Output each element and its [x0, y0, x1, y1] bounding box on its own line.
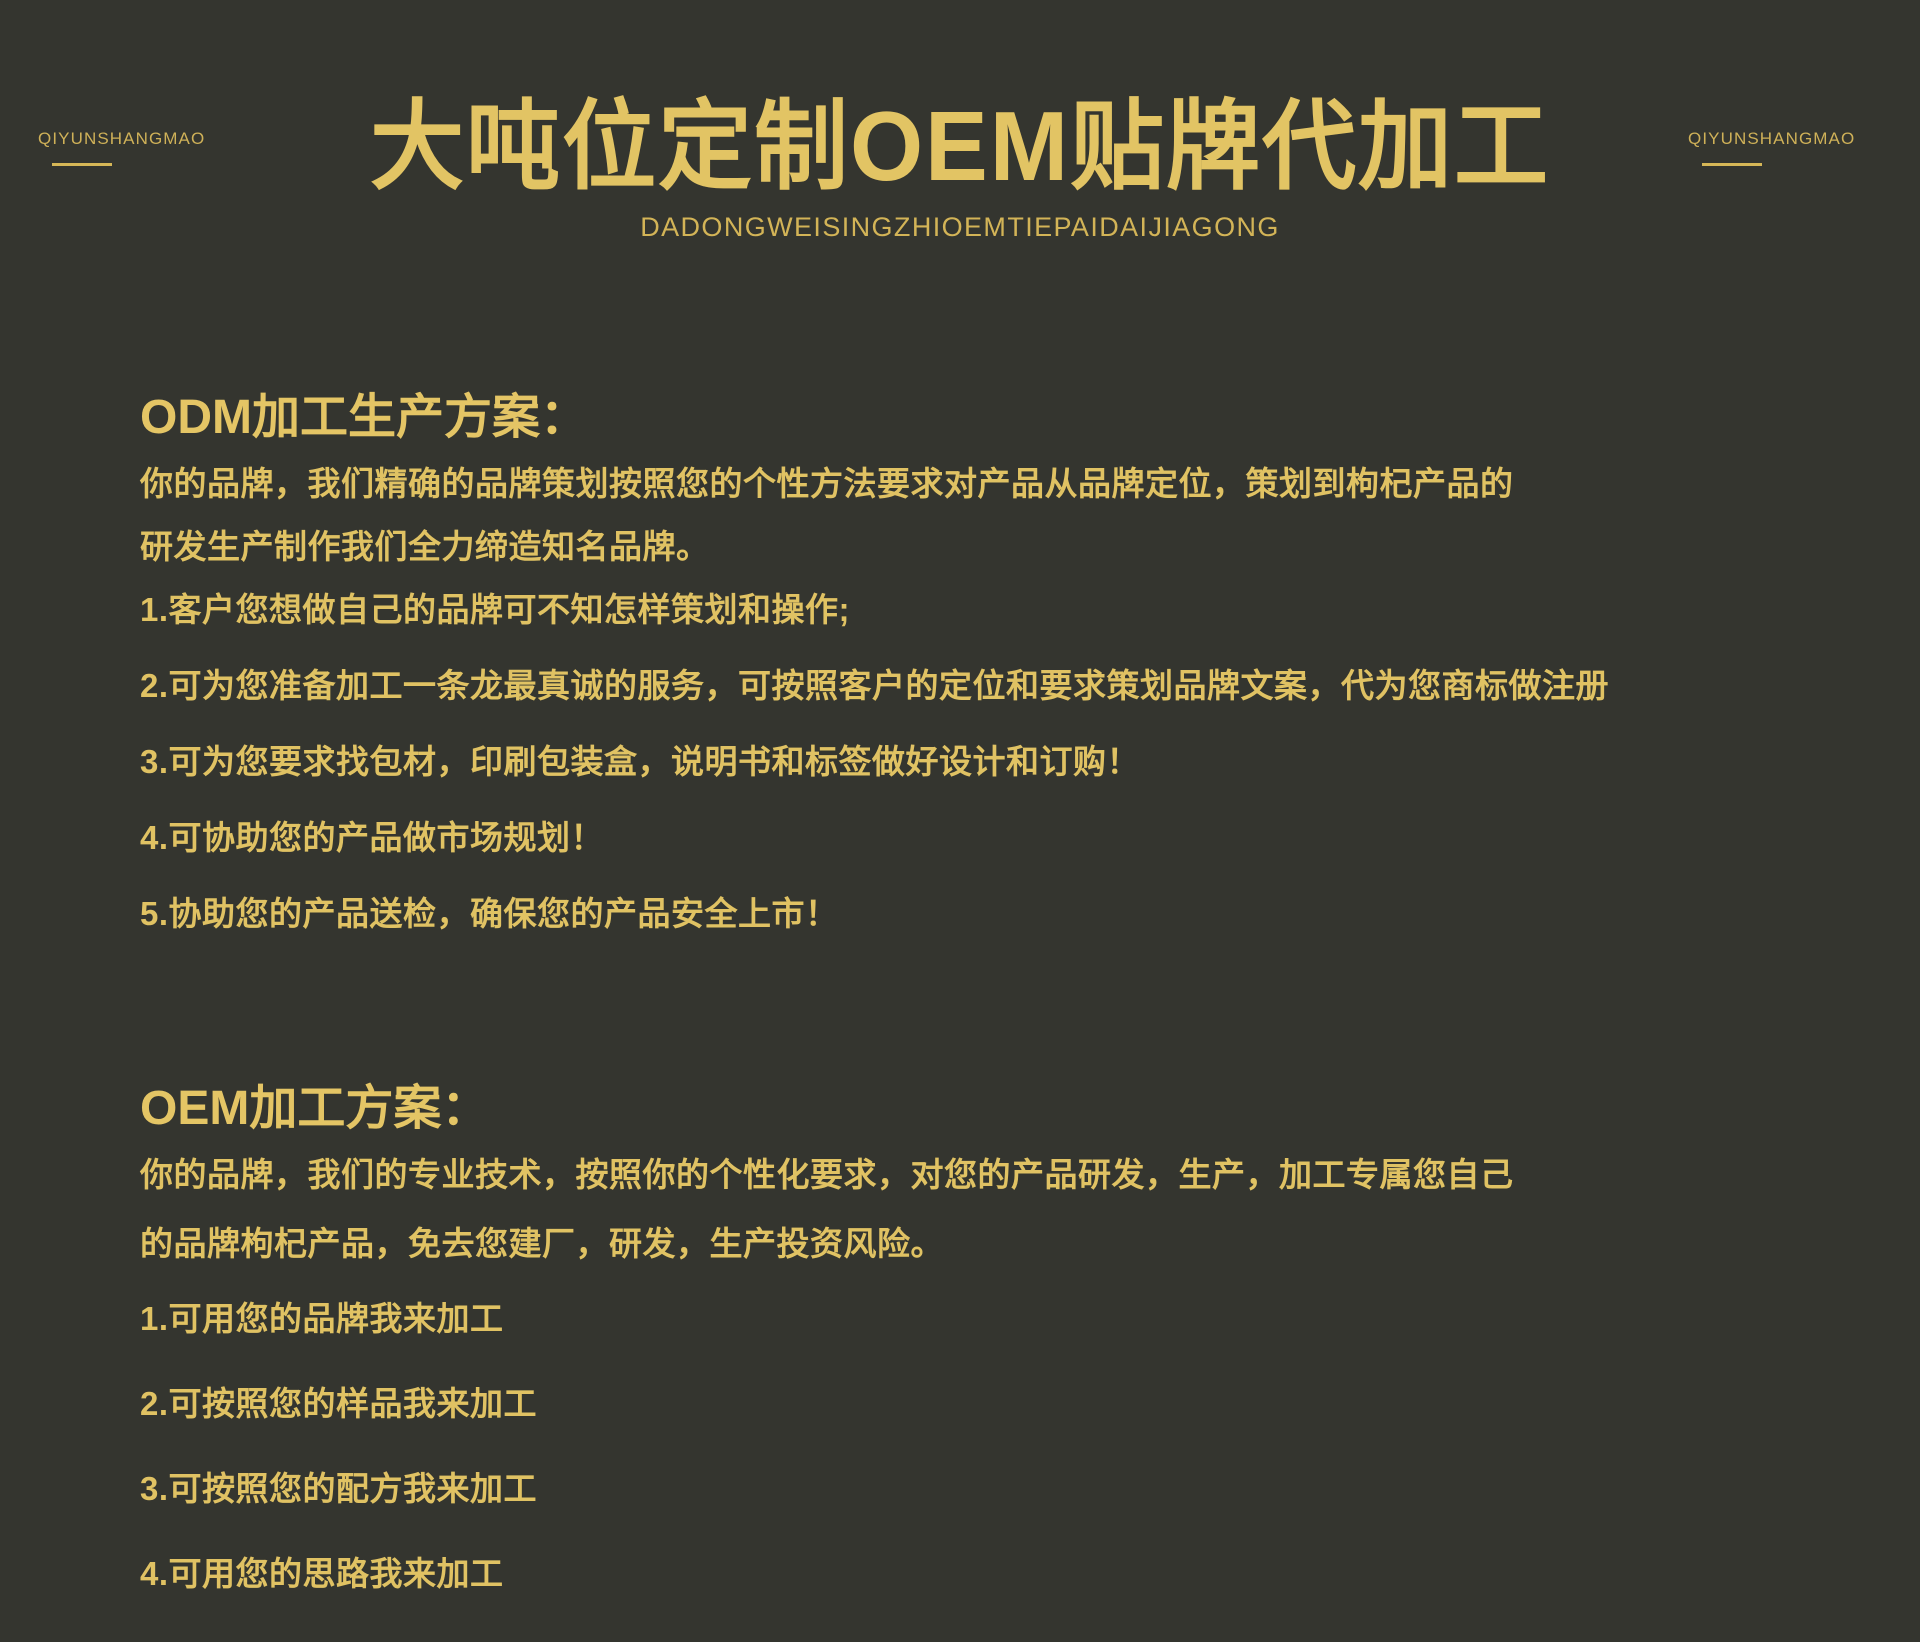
list-item: 3.可为您要求找包材，印刷包装盒，说明书和标签做好设计和订购！ [140, 745, 1920, 778]
section-oem-paragraph-1: 你的品牌，我们的专业技术，按照你的个性化要求，对您的产品研发，生产，加工专属您自… [140, 1158, 1920, 1191]
section-odm-heading: ODM加工生产方案： [140, 392, 1920, 445]
section-oem-list: 1.可用您的品牌我来加工 2.可按照您的样品我来加工 3.可按照您的配方我来加工… [140, 1302, 1920, 1590]
section-odm-list: 1.客户您想做自己的品牌可不知怎样策划和操作; 2.可为您准备加工一条龙最真诚的… [140, 593, 1920, 930]
list-item: 4.可协助您的产品做市场规划！ [140, 821, 1920, 854]
list-item: 1.可用您的品牌我来加工 [140, 1302, 1920, 1335]
list-item: 1.客户您想做自己的品牌可不知怎样策划和操作; [140, 593, 1920, 626]
section-odm: ODM加工生产方案： 你的品牌，我们精确的品牌策划按照您的个性方法要求对产品从品… [140, 300, 1920, 930]
section-odm-paragraph-1: 你的品牌，我们精确的品牌策划按照您的个性方法要求对产品从品牌定位，策划到枸杞产品… [140, 467, 1920, 500]
list-item: 3.可按照您的配方我来加工 [140, 1472, 1920, 1505]
section-oem: OEM加工方案： 你的品牌，我们的专业技术，按照你的个性化要求，对您的产品研发，… [140, 973, 1920, 1590]
list-item: 4.可用您的思路我来加工 [140, 1557, 1920, 1590]
list-item: 5.协助您的产品送检，确保您的产品安全上市！ [140, 897, 1920, 930]
list-item: 2.可按照您的样品我来加工 [140, 1387, 1920, 1420]
list-item: 2.可为您准备加工一条龙最真诚的服务，可按照客户的定位和要求策划品牌文案，代为您… [140, 669, 1920, 702]
title-block: 大吨位定制OEM贴牌代加工 DADONGWEISINGZHIOEMTIEPAID… [0, 94, 1920, 243]
page-header: QIYUNSHANGMAO QIYUNSHANGMAO 大吨位定制OEM贴牌代加… [0, 0, 1920, 300]
section-oem-heading: OEM加工方案： [140, 1083, 1920, 1136]
content-area: ODM加工生产方案： 你的品牌，我们精确的品牌策划按照您的个性方法要求对产品从品… [0, 300, 1920, 1642]
page-title: 大吨位定制OEM贴牌代加工 [38, 94, 1881, 200]
section-oem-paragraph-2: 的品牌枸杞产品，免去您建厂，研发，生产投资风险。 [140, 1227, 1920, 1260]
page-subtitle: DADONGWEISINGZHIOEMTIEPAIDAIJIAGONG [0, 212, 1920, 243]
section-odm-paragraph-2: 研发生产制作我们全力缔造知名品牌。 [140, 530, 1920, 563]
